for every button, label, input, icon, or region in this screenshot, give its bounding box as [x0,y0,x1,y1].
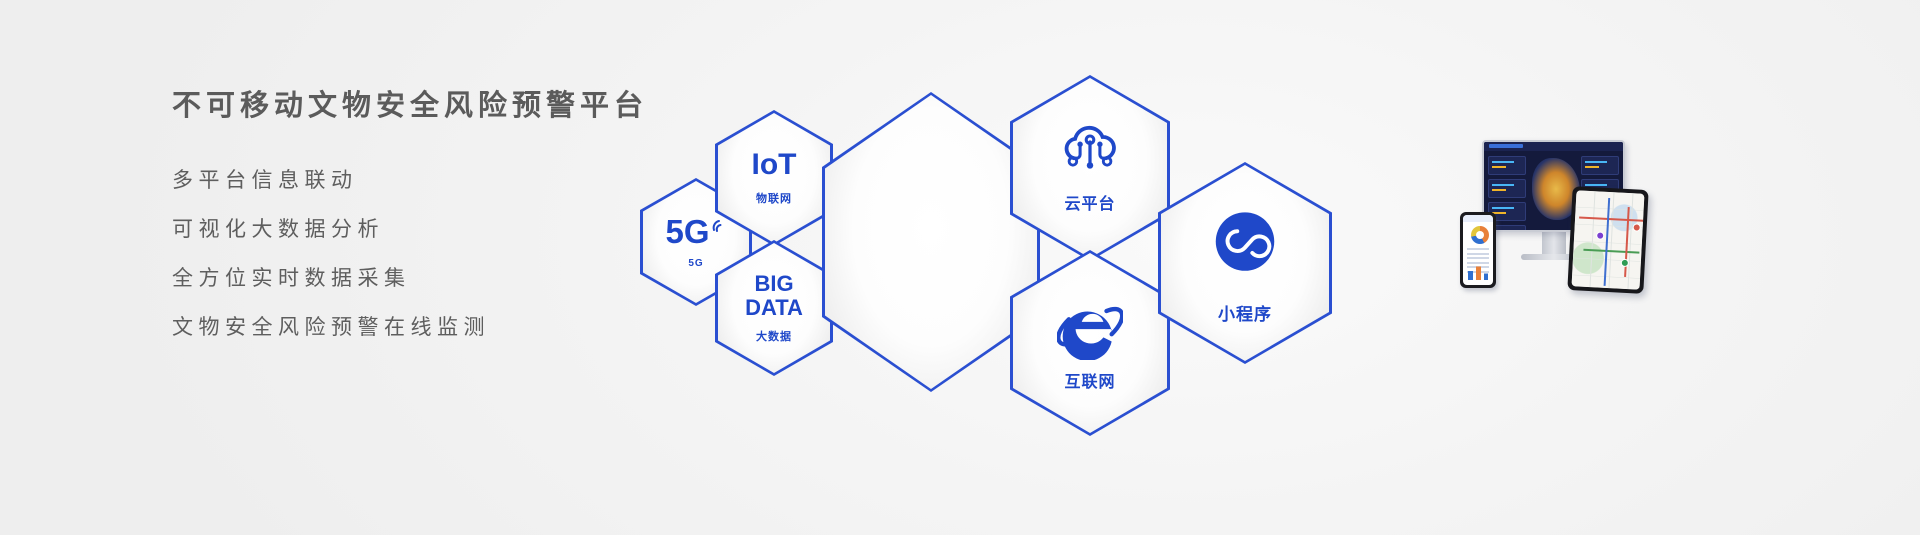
left-text-panel: 不可移动文物安全风险预警平台 多平台信息联动 可视化大数据分析 全方位实时数据采… [172,88,692,338]
feature-item-2: 可视化大数据分析 [172,219,692,240]
tablet-screen [1572,190,1645,289]
hex-tile-bigdata[interactable]: BIG DATA 大数据 [715,240,833,376]
cloud-circuit-icon [1054,122,1126,180]
page-title: 不可移动文物安全风险预警平台 [172,88,692,124]
hex-title-5g: 5G [665,215,709,249]
hex-subtitle-internet: 互联网 [1064,368,1115,392]
hex-tile-devices[interactable] [822,92,1040,392]
tablet-device [1567,186,1648,294]
hex-tile-cloud-platform[interactable]: 云平台 [1010,75,1170,261]
hex-tile-internet[interactable]: 互联网 [1010,250,1170,436]
hex-tile-miniprogram[interactable]: 小程序 [1158,162,1332,364]
feature-list: 多平台信息联动 可视化大数据分析 全方位实时数据采集 文物安全风险预警在线监测 [172,170,692,338]
feature-item-1: 多平台信息联动 [172,170,692,191]
internet-explorer-icon [1057,294,1123,360]
hex-subtitle-miniapp: 小程序 [1218,300,1272,325]
hex-subtitle-bigdata: 大数据 [756,328,792,344]
monitor-stand [1542,232,1566,254]
devices-showcase-icon [1460,140,1660,330]
hexagon-cluster: 5G 5G IoT 物联网 BIG DATA 大数据 [640,0,1920,535]
feature-item-4: 文物安全风险预警在线监测 [172,317,692,338]
wechat-miniprogram-icon [1202,202,1288,288]
phone-screen [1463,215,1493,285]
hex-title-iot: IoT [752,150,797,181]
feature-item-3: 全方位实时数据采集 [172,268,692,289]
hex-face-devices [825,95,1037,389]
smartphone-device [1460,212,1496,288]
hex-title-bigdata-line2: DATA [745,296,803,320]
hex-subtitle-iot: 物联网 [756,190,792,206]
hex-tile-iot[interactable]: IoT 物联网 [715,110,833,246]
hex-subtitle-cloud: 云平台 [1064,190,1115,214]
hex-subtitle-5g: 5G [688,258,703,269]
hex-title-bigdata-line1: BIG [754,272,793,296]
